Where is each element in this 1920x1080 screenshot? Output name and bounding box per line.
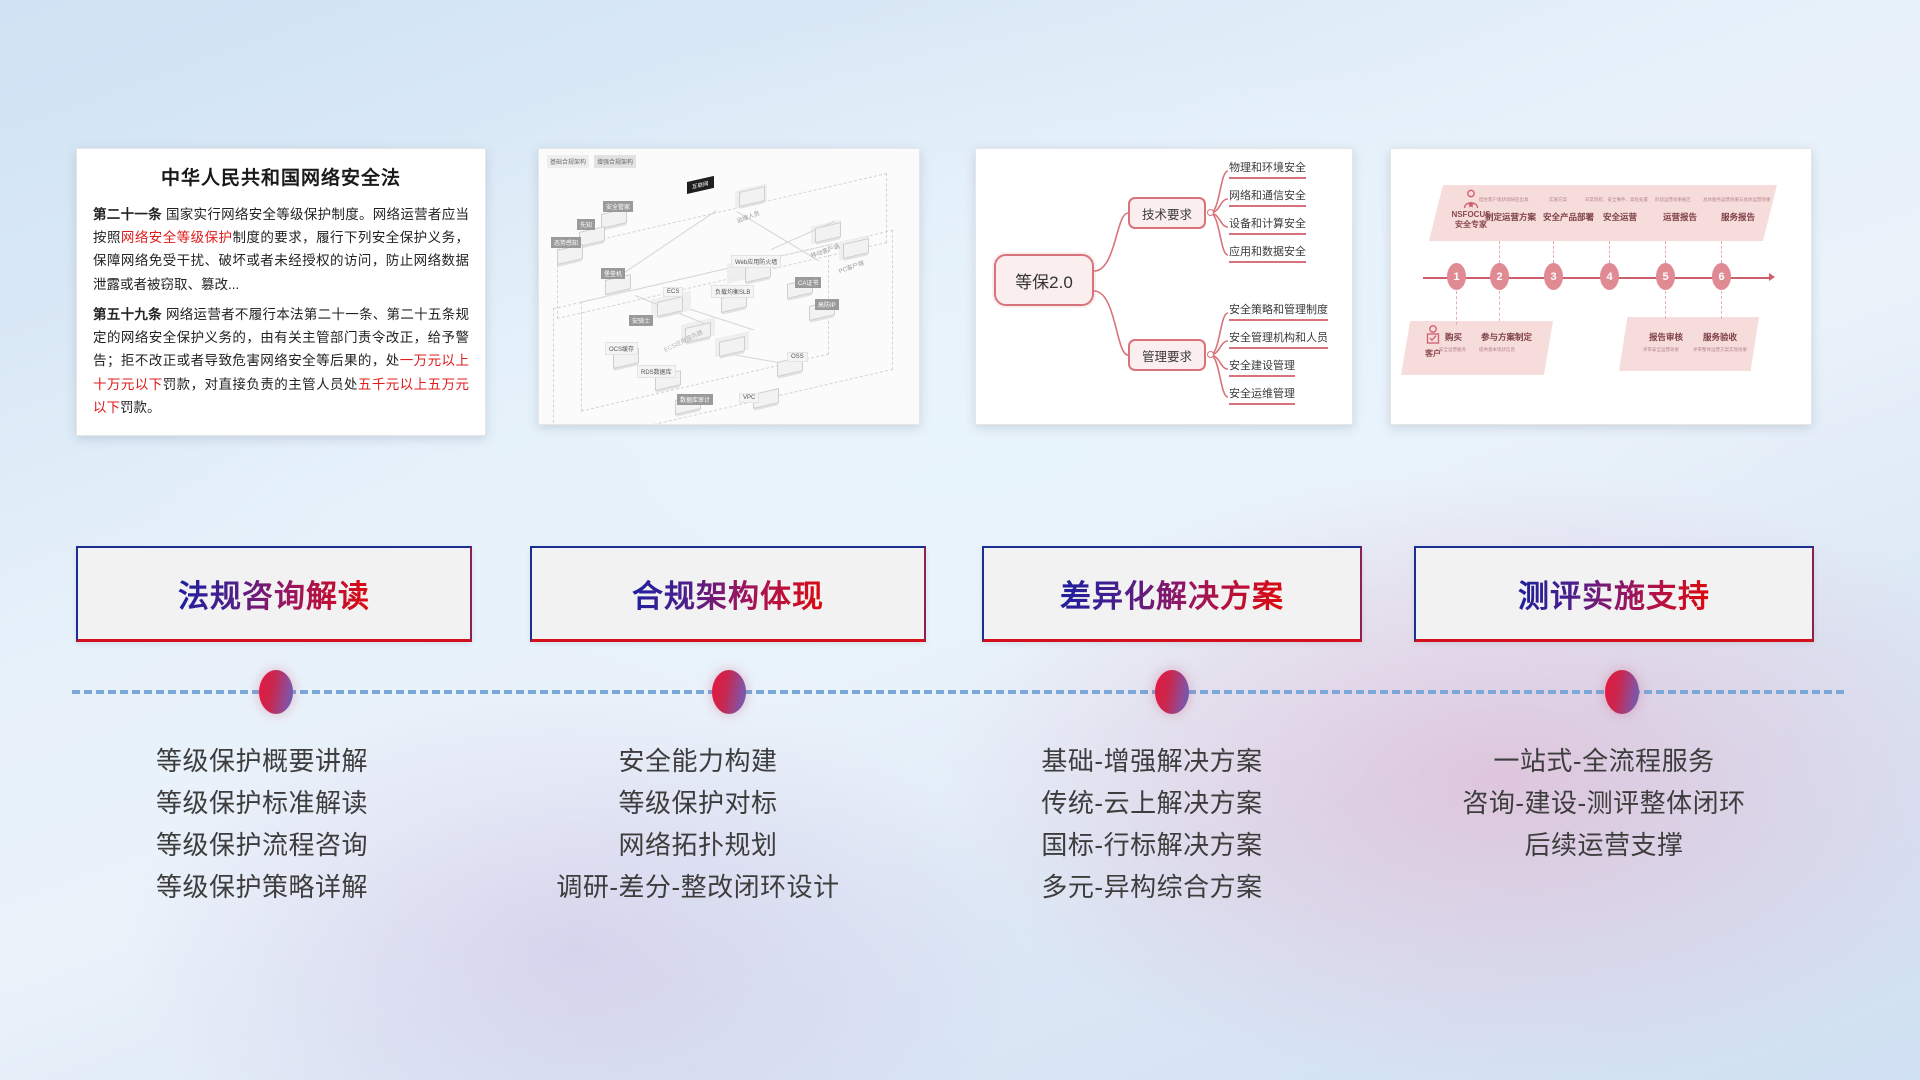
detail-item: 等级保护策略详解	[52, 866, 472, 908]
process-step-2: 2	[1490, 263, 1509, 290]
detail-item: 国标-行标解决方案	[952, 824, 1352, 866]
detail-item: 咨询-建设-测评整体闭环	[1386, 782, 1822, 824]
process-step-5: 5	[1656, 263, 1675, 290]
mindmap-root: 等保2.0	[994, 254, 1094, 306]
mindmap-leaf-tech-3: 设备和计算安全	[1229, 215, 1306, 235]
process-step-6: 6	[1712, 263, 1731, 290]
timeline-dashed-line	[72, 690, 1844, 694]
node-label-vpc: VPC	[739, 393, 759, 403]
process-dash-top-4	[1609, 241, 1610, 263]
preview-card-architecture[interactable]: 基础合规架构 增强合规架构 互联网	[538, 148, 920, 425]
architecture-diagram: 基础合规架构 增强合规架构 互联网	[539, 149, 919, 424]
process-dash-top-6	[1721, 241, 1722, 263]
mindmap-collapse-icon-technical[interactable]	[1207, 209, 1214, 216]
node-label-oss: OSS	[787, 352, 808, 362]
process-bottom-sub-2: 提供基本现状信息	[1479, 347, 1515, 353]
section-title-label-1: 法规咨询解读	[178, 571, 370, 616]
preview-card-process[interactable]: NSFOCUS 安全专家 客户 1 2 3 4 5	[1390, 148, 1812, 425]
mindmap-leaf-mgmt-4: 安全运维管理	[1229, 385, 1295, 405]
law-paragraph-1: 第二十一条 国家实行网络安全等级保护制度。网络运营者应当按照网络安全等级保护制度…	[93, 203, 469, 296]
mindmap-leaf-mgmt-3: 安全建设管理	[1229, 357, 1295, 377]
preview-card-row: 中华人民共和国网络安全法 第二十一条 国家实行网络安全等级保护制度。网络运营者应…	[0, 148, 1920, 448]
process-dash-top-2	[1499, 241, 1500, 263]
mindmap-leaf-tech-2: 网络和通信安全	[1229, 187, 1306, 207]
process-dash-bottom-1	[1456, 291, 1457, 325]
timeline-axis	[72, 690, 1844, 694]
mindmap-leaf-mgmt-1: 安全策略和管理制度	[1229, 301, 1328, 321]
section-title-row: 法规咨询解读 合规架构体现 差异化解决方案 测评实施支持	[0, 546, 1920, 642]
timeline-node-1[interactable]	[259, 670, 293, 714]
law-paragraph-2: 第五十九条 网络运营者不履行本法第二十一条、第二十五条规定的网络安全保护义务的，…	[93, 303, 469, 419]
detail-item: 网络拓扑规划	[488, 824, 908, 866]
process-top-sub-1: 结合客户现状调研后出具	[1479, 197, 1529, 203]
node-label-anti-ddos-ip: 高防IP	[815, 299, 839, 310]
process-top-label-4: 运营报告	[1663, 211, 1697, 223]
process-top-sub-3: 日常巡检、安全事件、高危处置	[1585, 197, 1648, 203]
timeline-node-3[interactable]	[1155, 670, 1189, 714]
detail-item: 多元-异构综合方案	[952, 866, 1352, 908]
detail-item: 安全能力构建	[488, 740, 908, 782]
detail-item: 等级保护流程咨询	[52, 824, 472, 866]
architecture-tabs[interactable]: 基础合规架构 增强合规架构	[547, 155, 636, 168]
tab-enhanced-architecture[interactable]: 增强合规架构	[594, 155, 636, 168]
mindmap-collapse-icon-management[interactable]	[1207, 351, 1214, 358]
process-band-customer-right	[1619, 317, 1759, 371]
process-dash-top-3	[1553, 241, 1554, 263]
detail-column-2: 安全能力构建 等级保护对标 网络拓扑规划 调研-差分-整改闭环设计	[488, 740, 908, 908]
node-label-situational-awareness: 态势感知	[551, 237, 581, 248]
process-top-sub-2: 实施方案	[1549, 197, 1567, 203]
process-bottom-sub-3: 评审安全运营效果	[1643, 347, 1679, 353]
process-top-sub-5: 总体服务运营效果与总体运营效果	[1703, 197, 1771, 203]
node-label-waf: Web应用防火墙	[731, 255, 781, 268]
law-document: 中华人民共和国网络安全法 第二十一条 国家实行网络安全等级保护制度。网络运营者应…	[77, 149, 485, 436]
node-label-anqishi: 安骑士	[629, 315, 653, 326]
process-bottom-label-1: 购买	[1445, 331, 1462, 343]
process-top-label-1: 制定运营方案	[1485, 211, 1536, 223]
slide-canvas: 中华人民共和国网络安全法 第二十一条 国家实行网络安全等级保护制度。网络运营者应…	[0, 0, 1920, 1080]
process-bottom-sub-1: 安全运营服务	[1439, 347, 1466, 353]
detail-item: 传统-云上解决方案	[952, 782, 1352, 824]
node-label-bastion-host: 堡垒机	[601, 268, 625, 279]
timeline-node-4[interactable]	[1605, 670, 1639, 714]
process-step-4: 4	[1600, 263, 1619, 290]
section-title-box-2[interactable]: 合规架构体现	[530, 546, 926, 642]
process-top-label-2: 安全产品部署	[1543, 211, 1594, 223]
detail-item: 后续运营支撑	[1386, 824, 1822, 866]
preview-card-mindmap[interactable]: 等保2.0 技术要求 管理要求 物理和环境安全 网络和通信安全 设备和计算安全 …	[975, 148, 1353, 425]
law-article-label-2: 第五十九条	[93, 307, 162, 322]
mindmap-branch-management: 管理要求	[1128, 339, 1206, 371]
timeline-node-2[interactable]	[712, 670, 746, 714]
node-label-security-butler: 安全管家	[603, 201, 633, 212]
customer-person-icon	[1424, 325, 1442, 347]
detail-column-3: 基础-增强解决方案 传统-云上解决方案 国标-行标解决方案 多元-异构综合方案	[952, 740, 1352, 908]
process-step-1: 1	[1447, 263, 1466, 290]
law-run-2-4: 罚款。	[120, 400, 161, 415]
node-label-db-audit: 数据库审计	[677, 394, 713, 405]
detail-column-4: 一站式-全流程服务 咨询-建设-测评整体闭环 后续运营支撑	[1386, 740, 1822, 866]
process-axis-arrow-icon	[1769, 273, 1775, 281]
mindmap-diagram: 等保2.0 技术要求 管理要求 物理和环境安全 网络和通信安全 设备和计算安全 …	[976, 149, 1352, 424]
section-title-box-3[interactable]: 差异化解决方案	[982, 546, 1362, 642]
node-label-ocs-cache: OCS缓存	[605, 342, 638, 355]
node-label-rds: RDS数据库	[637, 365, 676, 378]
law-article-label-1: 第二十一条	[93, 207, 162, 222]
process-bottom-label-4: 服务验收	[1703, 331, 1737, 343]
detail-item: 等级保护标准解读	[52, 782, 472, 824]
process-dash-bottom-5	[1665, 291, 1666, 319]
expert-person-icon	[1462, 189, 1480, 209]
mindmap-leaf-tech-1: 物理和环境安全	[1229, 159, 1306, 179]
process-diagram: NSFOCUS 安全专家 客户 1 2 3 4 5	[1391, 149, 1811, 424]
preview-card-law[interactable]: 中华人民共和国网络安全法 第二十一条 国家实行网络安全等级保护制度。网络运营者应…	[76, 148, 486, 436]
process-step-3: 3	[1544, 263, 1563, 290]
process-bottom-sub-4: 评审整体运营方案实现效果	[1693, 347, 1747, 353]
detail-item: 等级保护对标	[488, 782, 908, 824]
process-dash-bottom-6	[1721, 291, 1722, 319]
section-title-box-1[interactable]: 法规咨询解读	[76, 546, 472, 642]
tab-basic-architecture[interactable]: 基础合规架构	[547, 155, 589, 168]
mindmap-branch-technical: 技术要求	[1128, 197, 1206, 229]
section-title-box-4[interactable]: 测评实施支持	[1414, 546, 1814, 642]
node-label-ca-cert: CA证书	[795, 277, 821, 288]
detail-item: 一站式-全流程服务	[1386, 740, 1822, 782]
mindmap-leaf-mgmt-2: 安全管理机构和人员	[1229, 329, 1328, 349]
detail-column-1: 等级保护概要讲解 等级保护标准解读 等级保护流程咨询 等级保护策略详解	[52, 740, 472, 908]
node-label-xianzhi: 先知	[577, 219, 595, 230]
detail-item: 等级保护概要讲解	[52, 740, 472, 782]
internet-banner: 互联网	[687, 176, 714, 194]
process-bottom-label-2: 参与方案制定	[1481, 331, 1532, 343]
detail-item: 基础-增强解决方案	[952, 740, 1352, 782]
process-top-label-5: 服务报告	[1721, 211, 1755, 223]
process-dash-top-5	[1665, 241, 1666, 263]
law-run-2-2: 罚款，对直接负责的主管人员处	[163, 377, 358, 392]
law-title: 中华人民共和国网络安全法	[93, 163, 469, 190]
process-top-label-3: 安全运营	[1603, 211, 1637, 223]
process-expert-role: NSFOCUS 安全专家	[1443, 189, 1499, 230]
section-title-label-2: 合规架构体现	[632, 571, 824, 616]
process-top-sub-4: 阶段运营效果报告	[1655, 197, 1691, 203]
node-label-ecs: ECS	[663, 287, 683, 297]
law-run-1-1: 网络安全等级保护	[121, 230, 233, 245]
mindmap-leaf-tech-4: 应用和数据安全	[1229, 243, 1306, 263]
node-label-slb: 负载均衡SLB	[711, 285, 754, 298]
process-dash-bottom-2	[1499, 291, 1500, 321]
section-title-label-3: 差异化解决方案	[1060, 571, 1284, 616]
detail-item: 调研-差分-整改闭环设计	[488, 866, 908, 908]
section-title-label-4: 测评实施支持	[1518, 571, 1710, 616]
process-bottom-label-3: 报告审核	[1649, 331, 1683, 343]
